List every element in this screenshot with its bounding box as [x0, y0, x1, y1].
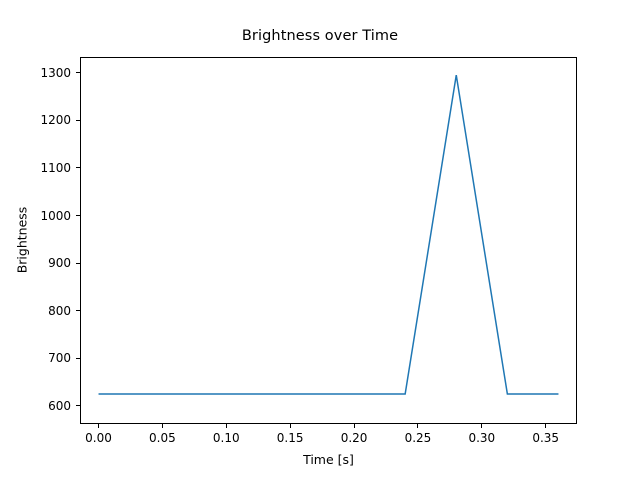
chart-title: Brightness over Time [0, 28, 640, 44]
x-tick-label: 0.20 [341, 431, 368, 445]
y-tick-mark [76, 120, 80, 121]
y-tick-label: 900 [0, 256, 71, 270]
brightness-line [99, 75, 559, 394]
x-tick-label: 0.10 [213, 431, 240, 445]
x-tick-mark [290, 424, 291, 428]
y-tick-mark [76, 405, 80, 406]
matplotlib-figure: Brightness over Time 6007008009001000110… [0, 0, 640, 480]
y-tick-mark [76, 310, 80, 311]
y-tick-mark [76, 72, 80, 73]
y-tick-label: 700 [0, 351, 71, 365]
x-tick-label: 0.00 [85, 431, 112, 445]
x-tick-mark [162, 424, 163, 428]
x-tick-mark [98, 424, 99, 428]
x-tick-mark [354, 424, 355, 428]
y-tick-label: 1000 [0, 209, 71, 223]
x-axis-label: Time [s] [80, 452, 577, 467]
y-tick-label: 1200 [0, 113, 71, 127]
x-tick-label: 0.30 [468, 431, 495, 445]
x-tick-label: 0.05 [149, 431, 176, 445]
x-tick-mark [417, 424, 418, 428]
x-tick-mark [481, 424, 482, 428]
x-tick-mark [226, 424, 227, 428]
y-tick-label: 800 [0, 304, 71, 318]
y-tick-label: 600 [0, 399, 71, 413]
x-tick-label: 0.25 [405, 431, 432, 445]
y-tick-mark [76, 358, 80, 359]
y-tick-mark [76, 263, 80, 264]
x-tick-label: 0.15 [277, 431, 304, 445]
y-tick-label: 1300 [0, 66, 71, 80]
x-tick-mark [545, 424, 546, 428]
y-tick-label: 1100 [0, 161, 71, 175]
x-tick-label: 0.35 [532, 431, 559, 445]
y-axis-label: Brightness [15, 207, 30, 274]
y-tick-mark [76, 215, 80, 216]
y-tick-mark [76, 167, 80, 168]
plot-area [80, 57, 577, 424]
